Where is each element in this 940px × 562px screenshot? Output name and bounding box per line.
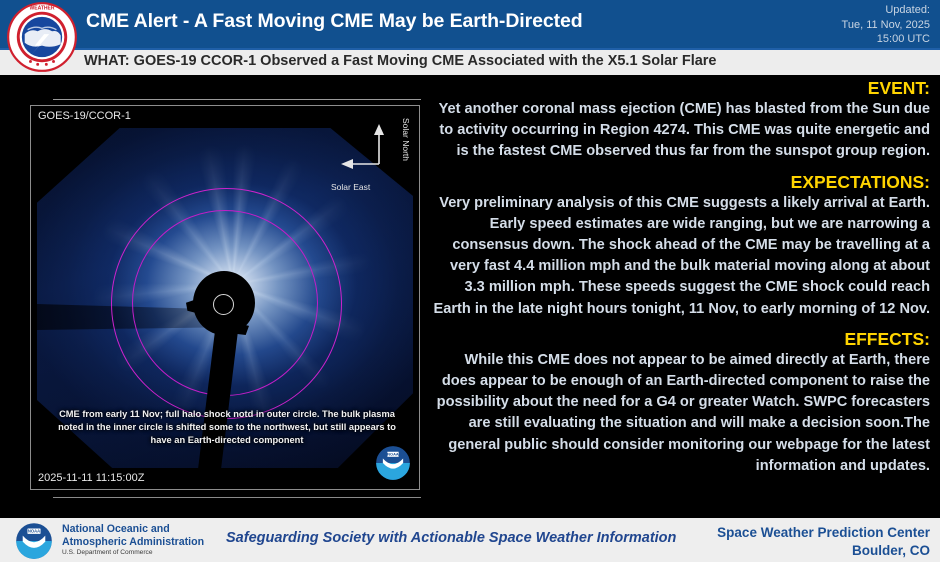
section-event: EVENT: Yet another coronal mass ejection… (424, 77, 934, 163)
noaa-agency-name: National Oceanic and Atmospheric Adminis… (62, 523, 204, 548)
solar-disk-outline (213, 294, 234, 315)
image-timestamp: 2025-11-11 11:15:00Z (38, 472, 144, 484)
svg-text:NOAA: NOAA (28, 529, 40, 534)
section-event-body: Yet another coronal mass ejection (CME) … (424, 99, 934, 163)
updated-timestamp: Updated: Tue, 11 Nov, 2025 15:00 UTC (842, 3, 930, 47)
noaa-department-line: U.S. Department of Commerce (62, 549, 153, 556)
updated-date: Tue, 11 Nov, 2025 (842, 18, 930, 33)
solar-orientation-compass: Solar North Solar East (327, 116, 413, 194)
swpc-location: Boulder, CO (717, 542, 930, 560)
section-effects-heading: EFFECTS: (424, 328, 934, 350)
compass-north-label: Solar North (401, 118, 411, 161)
svg-text:WEATHER: WEATHER (29, 6, 54, 12)
svg-text:NOAA: NOAA (387, 452, 399, 457)
alert-text-column: EVENT: Yet another coronal mass ejection… (424, 75, 934, 518)
what-subheader-bar: WHAT: GOES-19 CCOR-1 Observed a Fast Mov… (0, 48, 940, 75)
footer-bar: NOAA National Oceanic and Atmospheric Ad… (0, 518, 940, 562)
noaa-agency-line1: National Oceanic and (62, 523, 204, 536)
updated-label: Updated: (842, 3, 930, 18)
section-expectations: EXPECTATIONS: Very preliminary analysis … (424, 171, 934, 320)
compass-east-label: Solar East (331, 182, 370, 192)
content-area: GOES-19/CCOR-1 2025-11-11 11:15:00Z Sola… (0, 75, 940, 518)
page-title: CME Alert - A Fast Moving CME May be Ear… (86, 10, 583, 33)
national-weather-service-seal-icon: WEATHER (6, 1, 78, 73)
section-expectations-heading: EXPECTATIONS: (424, 171, 934, 193)
section-effects: EFFECTS: While this CME does not appear … (424, 328, 934, 477)
what-subheader-text: WHAT: GOES-19 CCOR-1 Observed a Fast Mov… (84, 53, 717, 69)
coronagraph-image-panel: GOES-19/CCOR-1 2025-11-11 11:15:00Z Sola… (30, 105, 420, 490)
swpc-center-name: Space Weather Prediction Center (717, 524, 930, 542)
instrument-label: GOES-19/CCOR-1 (38, 110, 131, 122)
footer-tagline: Safeguarding Society with Actionable Spa… (226, 530, 676, 546)
image-caption: CME from early 11 Nov; full halo shock n… (49, 408, 405, 447)
section-expectations-body: Very preliminary analysis of this CME su… (424, 193, 934, 320)
bottom-divider (53, 497, 421, 498)
noaa-logo-icon: NOAA (14, 522, 54, 560)
top-divider (53, 99, 421, 100)
section-effects-body: While this CME does not appear to be aim… (424, 350, 934, 477)
noaa-agency-line2: Atmospheric Administration (62, 536, 204, 549)
section-event-heading: EVENT: (424, 77, 934, 99)
updated-time: 15:00 UTC (842, 32, 930, 47)
noaa-emblem-icon: NOAA (375, 445, 411, 481)
swpc-attribution: Space Weather Prediction Center Boulder,… (717, 524, 930, 559)
